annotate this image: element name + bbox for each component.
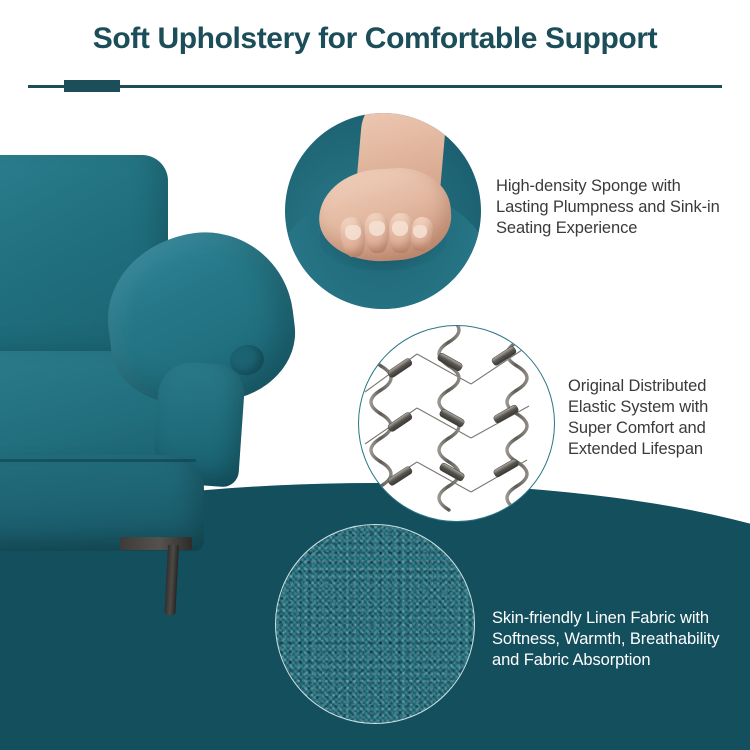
feature-image-high-density-sponge — [285, 113, 481, 309]
sofa-leg-bracket — [120, 537, 192, 550]
fingernail — [369, 221, 385, 236]
caption-line: Skin-friendly Linen Fabric with — [492, 608, 750, 629]
divider-accent-block — [64, 80, 120, 92]
serpentine-spring-diagram — [359, 326, 553, 520]
sofa-leg-shaft — [164, 545, 179, 615]
caption-line: Seating Experience — [496, 218, 746, 239]
sofa-metal-leg — [120, 537, 192, 615]
caption-line: Elastic System with — [568, 397, 750, 418]
caption-line: Softness, Warmth, Breathability — [492, 629, 750, 650]
title-divider — [28, 80, 722, 92]
caption-line: Original Distributed — [568, 376, 750, 397]
caption-line: High-density Sponge with — [496, 176, 746, 197]
page-title: Soft Upholstery for Comfortable Support — [0, 22, 750, 56]
divider-line — [28, 85, 722, 88]
sofa-base-seam — [0, 459, 196, 462]
feature-image-linen-fabric — [275, 524, 475, 724]
fingernail — [392, 221, 408, 236]
sofa-product-image — [0, 155, 310, 625]
caption-line: Extended Lifespan — [568, 439, 750, 460]
fingernail — [413, 225, 427, 238]
feature-caption-elastic-system: Original Distributed Elastic System with… — [568, 376, 750, 460]
infographic-page: Soft Upholstery for Comfortable Support — [0, 0, 750, 750]
caption-line: Super Comfort and — [568, 418, 750, 439]
feature-caption-linen-fabric: Skin-friendly Linen Fabric with Softness… — [492, 608, 750, 671]
feature-caption-high-density-sponge: High-density Sponge with Lasting Plumpne… — [496, 176, 746, 239]
caption-line: Lasting Plumpness and Sink-in — [496, 197, 746, 218]
caption-line: and Fabric Absorption — [492, 650, 750, 671]
feature-image-elastic-system — [358, 325, 555, 522]
fingernail — [345, 225, 361, 240]
